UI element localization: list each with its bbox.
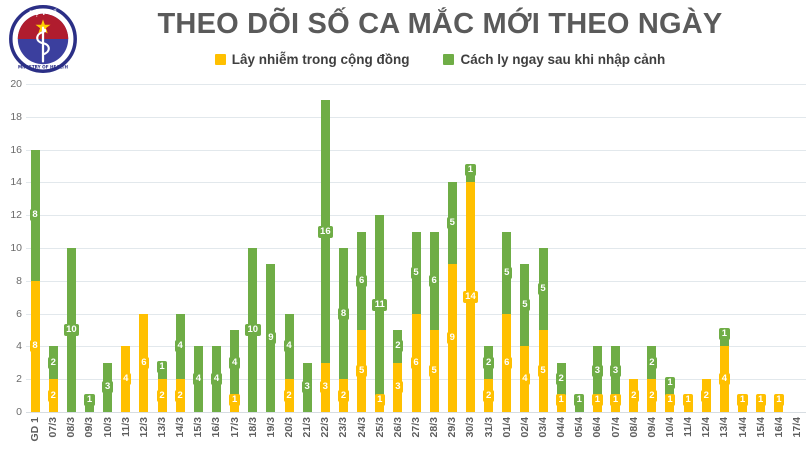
bar-segment-community[interactable]: 2 bbox=[702, 379, 711, 412]
x-axis-label-text: 26/3 bbox=[392, 417, 404, 437]
x-axis-label-text: 06/4 bbox=[591, 417, 603, 437]
bar-column[interactable]: 3 bbox=[99, 84, 117, 412]
x-axis-label: 14/4 bbox=[733, 415, 751, 456]
legend-swatch-community bbox=[215, 54, 226, 65]
x-axis-label: 23/3 bbox=[334, 415, 352, 456]
bar-segment-quarantine[interactable]: 2 bbox=[49, 346, 58, 379]
bar-segment-quarantine[interactable]: 11 bbox=[375, 215, 384, 395]
bar-segment-community[interactable]: 2 bbox=[158, 379, 167, 412]
chart-title: THEO DÕI SỐ CA MẮC MỚI THEO NGÀY bbox=[90, 8, 790, 41]
x-axis-label-text: 16/4 bbox=[773, 417, 785, 437]
bar-column[interactable]: 56 bbox=[407, 84, 425, 412]
y-axis-tick-label: 8 bbox=[0, 275, 22, 287]
bar-value-label: 5 bbox=[356, 365, 366, 377]
bar-value-label: 5 bbox=[520, 299, 530, 311]
bar-segment-quarantine[interactable]: 1 bbox=[720, 330, 729, 346]
bar-value-label: 5 bbox=[538, 365, 548, 377]
x-axis-label-text: 29/3 bbox=[446, 417, 458, 437]
x-axis-label: 13/3 bbox=[153, 415, 171, 456]
bar-value-label: 1 bbox=[774, 394, 784, 406]
bar-segment-quarantine[interactable]: 5 bbox=[412, 232, 421, 314]
x-axis-label-text: 27/3 bbox=[410, 417, 422, 437]
bar-value-label: 8 bbox=[338, 308, 348, 320]
x-axis-label: 15/4 bbox=[752, 415, 770, 456]
x-axis-label: 19/3 bbox=[262, 415, 280, 456]
bar-value-label: 2 bbox=[483, 357, 493, 369]
bar-value-label: 1 bbox=[157, 361, 167, 373]
x-axis-label: 02/4 bbox=[516, 415, 534, 456]
bar-value-label: 6 bbox=[502, 357, 512, 369]
bar-column[interactable]: 42 bbox=[171, 84, 189, 412]
y-axis-tick-label: 2 bbox=[0, 373, 22, 385]
bar-segment-community[interactable]: 4 bbox=[720, 346, 729, 412]
bar-value-label: 9 bbox=[447, 332, 457, 344]
x-axis-label-text: 21/3 bbox=[301, 417, 313, 437]
x-axis-label-text: 14/4 bbox=[737, 417, 749, 437]
chart-legend: Lây nhiễm trong cộng đồng Cách ly ngay s… bbox=[90, 52, 790, 67]
bar-value-label: 8 bbox=[30, 209, 40, 221]
x-axis-label: 09/3 bbox=[80, 415, 98, 456]
bar-value-label: 1 bbox=[756, 394, 766, 406]
bar-segment-community[interactable]: 1 bbox=[756, 396, 765, 412]
x-axis-label: 27/3 bbox=[407, 415, 425, 456]
legend-label-community: Lây nhiễm trong cộng đồng bbox=[232, 52, 410, 67]
bar-segment-community[interactable]: 3 bbox=[393, 363, 402, 412]
x-axis-label-text: 12/4 bbox=[700, 417, 712, 437]
bar-value-label: 4 bbox=[284, 340, 294, 352]
bar-column[interactable]: 2 bbox=[697, 84, 715, 412]
bar-column[interactable]: 1 bbox=[770, 84, 788, 412]
x-axis-label-text: GD 1 bbox=[29, 417, 41, 442]
bar-column[interactable]: 6 bbox=[135, 84, 153, 412]
y-axis-tick-label: 14 bbox=[0, 176, 22, 188]
bar-segment-community[interactable]: 1 bbox=[593, 396, 602, 412]
bar-segment-community[interactable]: 2 bbox=[285, 379, 294, 412]
x-axis-label-text: 03/4 bbox=[537, 417, 549, 437]
bar-segment-community[interactable]: 1 bbox=[611, 396, 620, 412]
x-axis-label-text: 02/4 bbox=[519, 417, 531, 437]
x-axis-label: 07/3 bbox=[44, 415, 62, 456]
x-axis-label-text: 23/3 bbox=[337, 417, 349, 437]
bar-segment-quarantine[interactable]: 2 bbox=[647, 346, 656, 379]
x-axis-label: 11/3 bbox=[117, 415, 135, 456]
bar-value-label: 6 bbox=[429, 275, 439, 287]
bar-segment-quarantine[interactable]: 4 bbox=[230, 330, 239, 396]
bar-value-label: 8 bbox=[30, 340, 40, 352]
bar-value-label: 1 bbox=[556, 394, 566, 406]
bar-column[interactable]: 22 bbox=[480, 84, 498, 412]
x-axis-label-text: 13/4 bbox=[718, 417, 730, 437]
bar-value-label: 6 bbox=[139, 357, 149, 369]
x-axis-label-text: 15/4 bbox=[755, 417, 767, 437]
x-axis-label: 17/3 bbox=[226, 415, 244, 456]
x-axis-label: 31/3 bbox=[480, 415, 498, 456]
bar-column[interactable]: 114 bbox=[461, 84, 479, 412]
x-axis-label: 16/4 bbox=[770, 415, 788, 456]
bar-segment-quarantine[interactable]: 5 bbox=[448, 182, 457, 264]
x-axis-label: 10/4 bbox=[661, 415, 679, 456]
bar-column[interactable]: 88 bbox=[26, 84, 44, 412]
x-axis-labels: GD 107/308/309/310/311/312/313/314/315/3… bbox=[26, 415, 806, 456]
bar-value-label: 5 bbox=[502, 267, 512, 279]
bar-value-label: 2 bbox=[48, 357, 58, 369]
legend-item-quarantine[interactable]: Cách ly ngay sau khi nhập cảnh bbox=[443, 52, 665, 67]
bar-value-label: 11 bbox=[372, 299, 387, 311]
bar-value-label: 1 bbox=[592, 394, 602, 406]
x-axis-label-text: 12/3 bbox=[138, 417, 150, 437]
bar-segment-quarantine[interactable]: 5 bbox=[520, 264, 529, 346]
bar-segment-community[interactable]: 1 bbox=[230, 396, 239, 412]
x-axis-label-text: 24/3 bbox=[356, 417, 368, 437]
x-axis-label-text: 13/3 bbox=[156, 417, 168, 437]
bar-value-label: 1 bbox=[574, 394, 584, 406]
bar-column[interactable]: 23 bbox=[389, 84, 407, 412]
bar-segment-community[interactable]: 5 bbox=[357, 330, 366, 412]
bar-segment-community[interactable]: 1 bbox=[738, 396, 747, 412]
bar-column[interactable]: 22 bbox=[643, 84, 661, 412]
bar-segment-community[interactable]: 9 bbox=[448, 264, 457, 412]
bar-value-label: 2 bbox=[393, 340, 403, 352]
bar-column[interactable]: 10 bbox=[244, 84, 262, 412]
bar-segment-community[interactable]: 2 bbox=[339, 379, 348, 412]
bar-value-label: 14 bbox=[463, 291, 479, 303]
bar-value-label: 1 bbox=[665, 394, 675, 406]
bar-column[interactable]: 12 bbox=[153, 84, 171, 412]
bar-segment-quarantine[interactable]: 1 bbox=[85, 396, 94, 412]
bar-value-label: 1 bbox=[719, 328, 729, 340]
bar-value-label: 5 bbox=[411, 267, 421, 279]
bar-segment-quarantine[interactable]: 3 bbox=[593, 346, 602, 395]
bar-value-label: 3 bbox=[610, 365, 620, 377]
x-axis-label-text: 10/4 bbox=[664, 417, 676, 437]
bar-segment-community[interactable]: 1 bbox=[557, 396, 566, 412]
x-axis-label-text: 15/3 bbox=[192, 417, 204, 437]
bar-segment-community[interactable]: 2 bbox=[176, 379, 185, 412]
x-axis-label-text: 11/4 bbox=[682, 417, 694, 437]
bar-value-label: 2 bbox=[556, 373, 566, 385]
bar-segment-community[interactable]: 1 bbox=[684, 396, 693, 412]
bar-segment-community[interactable]: 5 bbox=[430, 330, 439, 412]
bar-column[interactable]: 10 bbox=[62, 84, 80, 412]
x-axis-label: 03/4 bbox=[534, 415, 552, 456]
bar-segment-quarantine[interactable]: 6 bbox=[430, 232, 439, 330]
bar-column[interactable] bbox=[788, 84, 806, 412]
bar-value-label: 4 bbox=[211, 373, 221, 385]
x-axis-label-text: 22/3 bbox=[319, 417, 331, 437]
bar-column[interactable]: 1 bbox=[752, 84, 770, 412]
bar-column[interactable]: 82 bbox=[334, 84, 352, 412]
chart-header: BỘ Y TẾ MINISTRY OF HEALTH THEO DÕI SỐ C… bbox=[0, 0, 810, 82]
bar-value-label: 3 bbox=[102, 381, 112, 393]
x-axis-label: 12/4 bbox=[697, 415, 715, 456]
x-axis-label: 17/4 bbox=[788, 415, 806, 456]
bar-segment-community[interactable]: 4 bbox=[121, 346, 130, 412]
bar-segment-community[interactable]: 3 bbox=[321, 363, 330, 412]
x-axis-label: 12/3 bbox=[135, 415, 153, 456]
bar-segment-quarantine[interactable]: 3 bbox=[611, 346, 620, 395]
legend-swatch-quarantine bbox=[443, 54, 454, 65]
legend-item-community[interactable]: Lây nhiễm trong cộng đồng bbox=[215, 52, 410, 67]
x-axis-label-text: 04/4 bbox=[555, 417, 567, 437]
x-axis-label: 26/3 bbox=[389, 415, 407, 456]
bar-value-label: 1 bbox=[683, 394, 693, 406]
x-axis-label-text: 05/4 bbox=[573, 417, 585, 437]
bar-value-label: 4 bbox=[193, 373, 203, 385]
x-axis-label: 28/3 bbox=[425, 415, 443, 456]
x-axis-label-text: 31/3 bbox=[483, 417, 495, 437]
x-axis-label: 22/3 bbox=[316, 415, 334, 456]
bar-segment-community[interactable]: 1 bbox=[665, 396, 674, 412]
bar-value-label: 2 bbox=[647, 390, 657, 402]
bar-column[interactable]: 41 bbox=[226, 84, 244, 412]
x-axis-line bbox=[26, 412, 806, 413]
bar-column[interactable]: 21 bbox=[552, 84, 570, 412]
bar-segment-quarantine[interactable]: 4 bbox=[212, 346, 221, 412]
y-axis-tick-label: 20 bbox=[0, 78, 22, 90]
bar-segment-quarantine[interactable]: 8 bbox=[339, 248, 348, 379]
bar-value-label: 2 bbox=[629, 390, 639, 402]
x-axis-label: 14/3 bbox=[171, 415, 189, 456]
bar-column[interactable]: 111 bbox=[371, 84, 389, 412]
bar-value-label: 3 bbox=[393, 381, 403, 393]
bar-column[interactable]: 2 bbox=[625, 84, 643, 412]
x-axis-label: 24/3 bbox=[353, 415, 371, 456]
x-axis-label-text: 11/3 bbox=[120, 417, 132, 437]
x-axis-label: 07/4 bbox=[607, 415, 625, 456]
bar-series-container: 8822101346124244411094231638265111235665… bbox=[26, 84, 806, 412]
bar-segment-quarantine[interactable]: 5 bbox=[502, 232, 511, 314]
x-axis-label-text: 16/3 bbox=[210, 417, 222, 437]
bar-segment-community[interactable]: 2 bbox=[484, 379, 493, 412]
chart-page: BỘ Y TẾ MINISTRY OF HEALTH THEO DÕI SỐ C… bbox=[0, 0, 810, 456]
y-axis-tick-label: 4 bbox=[0, 340, 22, 352]
bar-value-label: 10 bbox=[245, 324, 261, 336]
x-axis-label: 10/3 bbox=[99, 415, 117, 456]
x-axis-label: 15/3 bbox=[189, 415, 207, 456]
bar-segment-community[interactable]: 8 bbox=[31, 281, 40, 412]
bar-segment-community[interactable]: 6 bbox=[139, 314, 148, 412]
y-axis-tick-label: 10 bbox=[0, 242, 22, 254]
bar-value-label: 5 bbox=[447, 217, 457, 229]
x-axis-label-text: 17/4 bbox=[791, 417, 803, 437]
bar-column[interactable]: 14 bbox=[715, 84, 733, 412]
x-axis-label: 21/3 bbox=[298, 415, 316, 456]
legend-label-quarantine: Cách ly ngay sau khi nhập cảnh bbox=[460, 52, 665, 67]
x-axis-label-text: 18/3 bbox=[247, 417, 259, 437]
bar-segment-quarantine[interactable]: 16 bbox=[321, 100, 330, 362]
bar-column[interactable]: 65 bbox=[425, 84, 443, 412]
x-axis-label-text: 28/3 bbox=[428, 417, 440, 437]
logo-bottom-text: MINISTRY OF HEALTH bbox=[18, 64, 68, 69]
bar-segment-community[interactable]: 6 bbox=[502, 314, 511, 412]
bar-value-label: 3 bbox=[592, 365, 602, 377]
bar-segment-community[interactable]: 2 bbox=[647, 379, 656, 412]
bar-column[interactable]: 1 bbox=[570, 84, 588, 412]
x-axis-label-text: 08/3 bbox=[65, 417, 77, 437]
bar-segment-quarantine[interactable]: 1 bbox=[158, 363, 167, 379]
bar-segment-quarantine[interactable]: 2 bbox=[557, 363, 566, 396]
bar-segment-community[interactable]: 2 bbox=[629, 379, 638, 412]
x-axis-label-text: 07/3 bbox=[47, 417, 59, 437]
bar-segment-quarantine[interactable]: 10 bbox=[67, 248, 76, 412]
x-axis-label-text: 08/4 bbox=[628, 417, 640, 437]
x-axis-label-text: 09/3 bbox=[83, 417, 95, 437]
x-axis-label-text: 10/3 bbox=[102, 417, 114, 437]
x-axis-label: 11/4 bbox=[679, 415, 697, 456]
x-axis-label: 09/4 bbox=[643, 415, 661, 456]
bar-column[interactable]: 59 bbox=[443, 84, 461, 412]
bar-value-label: 2 bbox=[157, 390, 167, 402]
x-axis-label: 13/4 bbox=[715, 415, 733, 456]
x-axis-label-text: 14/3 bbox=[174, 417, 186, 437]
bar-segment-quarantine[interactable]: 2 bbox=[484, 346, 493, 379]
bar-value-label: 4 bbox=[175, 340, 185, 352]
x-axis-label-text: 09/4 bbox=[646, 417, 658, 437]
bar-column[interactable]: 4 bbox=[117, 84, 135, 412]
bar-value-label: 2 bbox=[483, 390, 493, 402]
bar-segment-quarantine[interactable]: 5 bbox=[539, 248, 548, 330]
bar-column[interactable]: 56 bbox=[498, 84, 516, 412]
bar-segment-community[interactable]: 4 bbox=[520, 346, 529, 412]
bar-segment-quarantine[interactable]: 10 bbox=[248, 248, 257, 412]
bar-value-label: 1 bbox=[465, 164, 475, 176]
y-axis-tick-label: 18 bbox=[0, 111, 22, 123]
x-axis-label: GD 1 bbox=[26, 415, 44, 456]
x-axis-label: 29/3 bbox=[443, 415, 461, 456]
bar-segment-quarantine[interactable]: 3 bbox=[303, 363, 312, 412]
bar-value-label: 4 bbox=[719, 373, 729, 385]
bar-column[interactable]: 31 bbox=[588, 84, 606, 412]
bar-segment-community[interactable]: 14 bbox=[466, 182, 475, 412]
bar-value-label: 5 bbox=[429, 365, 439, 377]
y-axis-tick-label: 0 bbox=[0, 406, 22, 418]
bar-column[interactable]: 3 bbox=[298, 84, 316, 412]
bar-segment-community[interactable]: 1 bbox=[774, 396, 783, 412]
bar-segment-quarantine[interactable]: 1 bbox=[575, 396, 584, 412]
x-axis-label: 18/3 bbox=[244, 415, 262, 456]
x-axis-label-text: 20/3 bbox=[283, 417, 295, 437]
x-axis-label: 01/4 bbox=[498, 415, 516, 456]
bar-value-label: 4 bbox=[121, 373, 131, 385]
x-axis-label: 30/3 bbox=[461, 415, 479, 456]
bar-value-label: 2 bbox=[701, 390, 711, 402]
bar-value-label: 2 bbox=[647, 357, 657, 369]
bar-column[interactable]: 163 bbox=[316, 84, 334, 412]
bar-column[interactable]: 4 bbox=[207, 84, 225, 412]
bar-column[interactable]: 4 bbox=[189, 84, 207, 412]
x-axis-label: 05/4 bbox=[570, 415, 588, 456]
y-axis-tick-label: 6 bbox=[0, 308, 22, 320]
bar-segment-quarantine[interactable]: 2 bbox=[393, 330, 402, 363]
bar-column[interactable]: 11 bbox=[661, 84, 679, 412]
bar-value-label: 4 bbox=[229, 357, 239, 369]
bar-column[interactable]: 31 bbox=[607, 84, 625, 412]
bar-value-label: 2 bbox=[338, 390, 348, 402]
x-axis-label-text: 01/4 bbox=[501, 417, 513, 437]
x-axis-label: 08/4 bbox=[625, 415, 643, 456]
bar-value-label: 2 bbox=[175, 390, 185, 402]
bar-value-label: 1 bbox=[737, 394, 747, 406]
bar-value-label: 3 bbox=[320, 381, 330, 393]
bar-value-label: 5 bbox=[538, 283, 548, 295]
bar-segment-quarantine[interactable]: 4 bbox=[285, 314, 294, 380]
bar-segment-quarantine[interactable]: 8 bbox=[31, 150, 40, 281]
bar-column[interactable]: 42 bbox=[280, 84, 298, 412]
bar-segment-quarantine[interactable]: 3 bbox=[103, 363, 112, 412]
bar-value-label: 1 bbox=[610, 394, 620, 406]
bar-value-label: 9 bbox=[266, 332, 276, 344]
bar-segment-community[interactable]: 1 bbox=[375, 396, 384, 412]
bar-value-label: 2 bbox=[284, 390, 294, 402]
x-axis-label-text: 30/3 bbox=[464, 417, 476, 437]
bar-column[interactable]: 1 bbox=[80, 84, 98, 412]
bar-segment-quarantine[interactable]: 4 bbox=[176, 314, 185, 380]
x-axis-label-text: 19/3 bbox=[265, 417, 277, 437]
bar-column[interactable]: 55 bbox=[534, 84, 552, 412]
bar-value-label: 2 bbox=[48, 390, 58, 402]
bar-value-label: 6 bbox=[356, 275, 366, 287]
bar-column[interactable]: 1 bbox=[679, 84, 697, 412]
bar-column[interactable]: 65 bbox=[353, 84, 371, 412]
x-axis-label: 25/3 bbox=[371, 415, 389, 456]
bar-column[interactable]: 22 bbox=[44, 84, 62, 412]
bar-segment-quarantine[interactable]: 6 bbox=[357, 232, 366, 330]
bar-segment-community[interactable]: 6 bbox=[412, 314, 421, 412]
bar-value-label: 4 bbox=[520, 373, 530, 385]
bar-segment-quarantine[interactable]: 4 bbox=[194, 346, 203, 412]
chart-plot-area: 02468101214161820 8822101346124244411094… bbox=[0, 84, 810, 456]
x-axis-label-text: 17/3 bbox=[229, 417, 241, 437]
y-axis-tick-label: 16 bbox=[0, 144, 22, 156]
bar-value-label: 1 bbox=[665, 377, 675, 389]
bar-value-label: 1 bbox=[229, 394, 239, 406]
bar-value-label: 16 bbox=[318, 226, 334, 238]
bar-segment-quarantine[interactable]: 9 bbox=[266, 264, 275, 412]
bar-segment-quarantine[interactable]: 1 bbox=[466, 166, 475, 182]
x-axis-label: 08/3 bbox=[62, 415, 80, 456]
bar-column[interactable]: 54 bbox=[516, 84, 534, 412]
x-axis-label-text: 25/3 bbox=[374, 417, 386, 437]
bar-value-label: 1 bbox=[375, 394, 385, 406]
x-axis-label: 04/4 bbox=[552, 415, 570, 456]
bar-value-label: 3 bbox=[302, 381, 312, 393]
bar-column[interactable]: 1 bbox=[733, 84, 751, 412]
ministry-of-health-logo-icon: BỘ Y TẾ MINISTRY OF HEALTH bbox=[8, 4, 78, 74]
y-axis-tick-label: 12 bbox=[0, 209, 22, 221]
bar-segment-community[interactable]: 2 bbox=[49, 379, 58, 412]
bar-value-label: 6 bbox=[411, 357, 421, 369]
x-axis-label: 16/3 bbox=[207, 415, 225, 456]
bar-column[interactable]: 9 bbox=[262, 84, 280, 412]
x-axis-label: 06/4 bbox=[588, 415, 606, 456]
x-axis-label: 20/3 bbox=[280, 415, 298, 456]
bar-value-label: 10 bbox=[64, 324, 80, 336]
x-axis-label-text: 07/4 bbox=[610, 417, 622, 437]
bar-value-label: 1 bbox=[84, 394, 94, 406]
bar-segment-community[interactable]: 5 bbox=[539, 330, 548, 412]
